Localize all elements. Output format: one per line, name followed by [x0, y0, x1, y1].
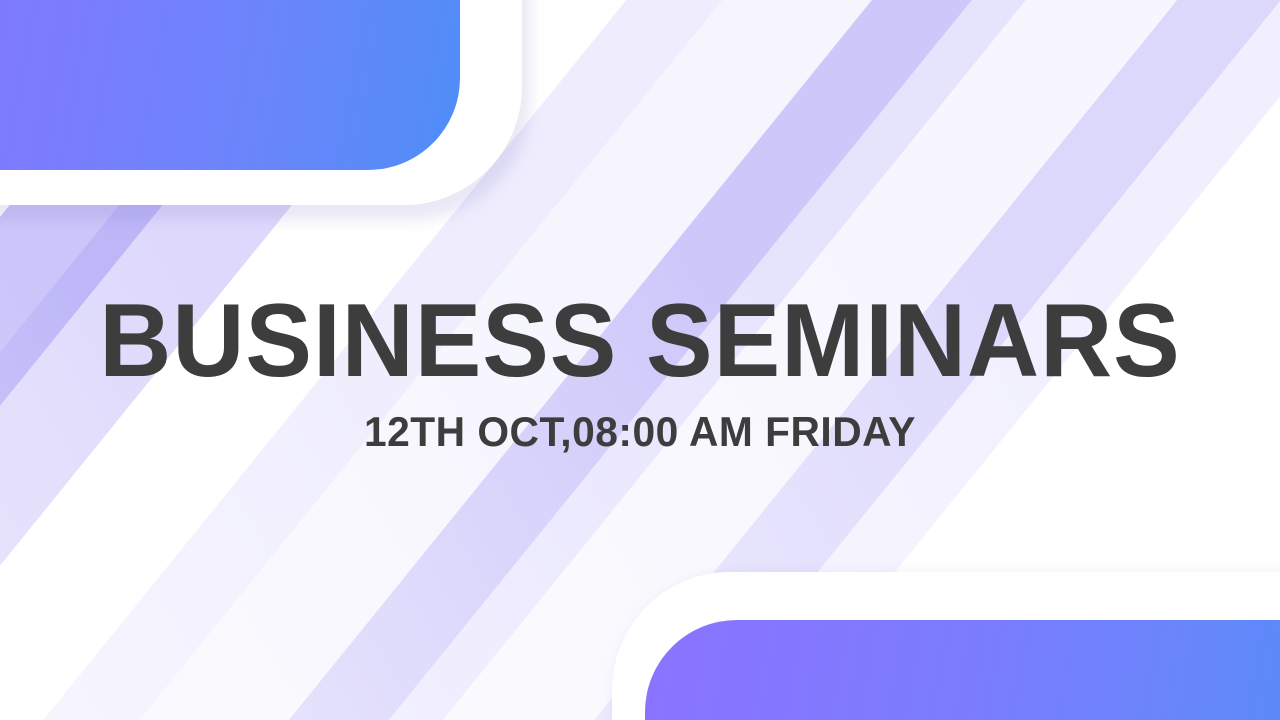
bottom-right-gradient-block — [645, 620, 1280, 720]
poster-text-block: BUSINESS SEMINARS 12TH OCT,08:00 AM FRID… — [0, 288, 1280, 456]
poster-title: BUSINESS SEMINARS — [26, 288, 1255, 394]
poster-subtitle: 12TH OCT,08:00 AM FRIDAY — [19, 408, 1261, 456]
top-left-gradient-block — [0, 0, 460, 170]
event-poster: BUSINESS SEMINARS 12TH OCT,08:00 AM FRID… — [0, 0, 1280, 720]
